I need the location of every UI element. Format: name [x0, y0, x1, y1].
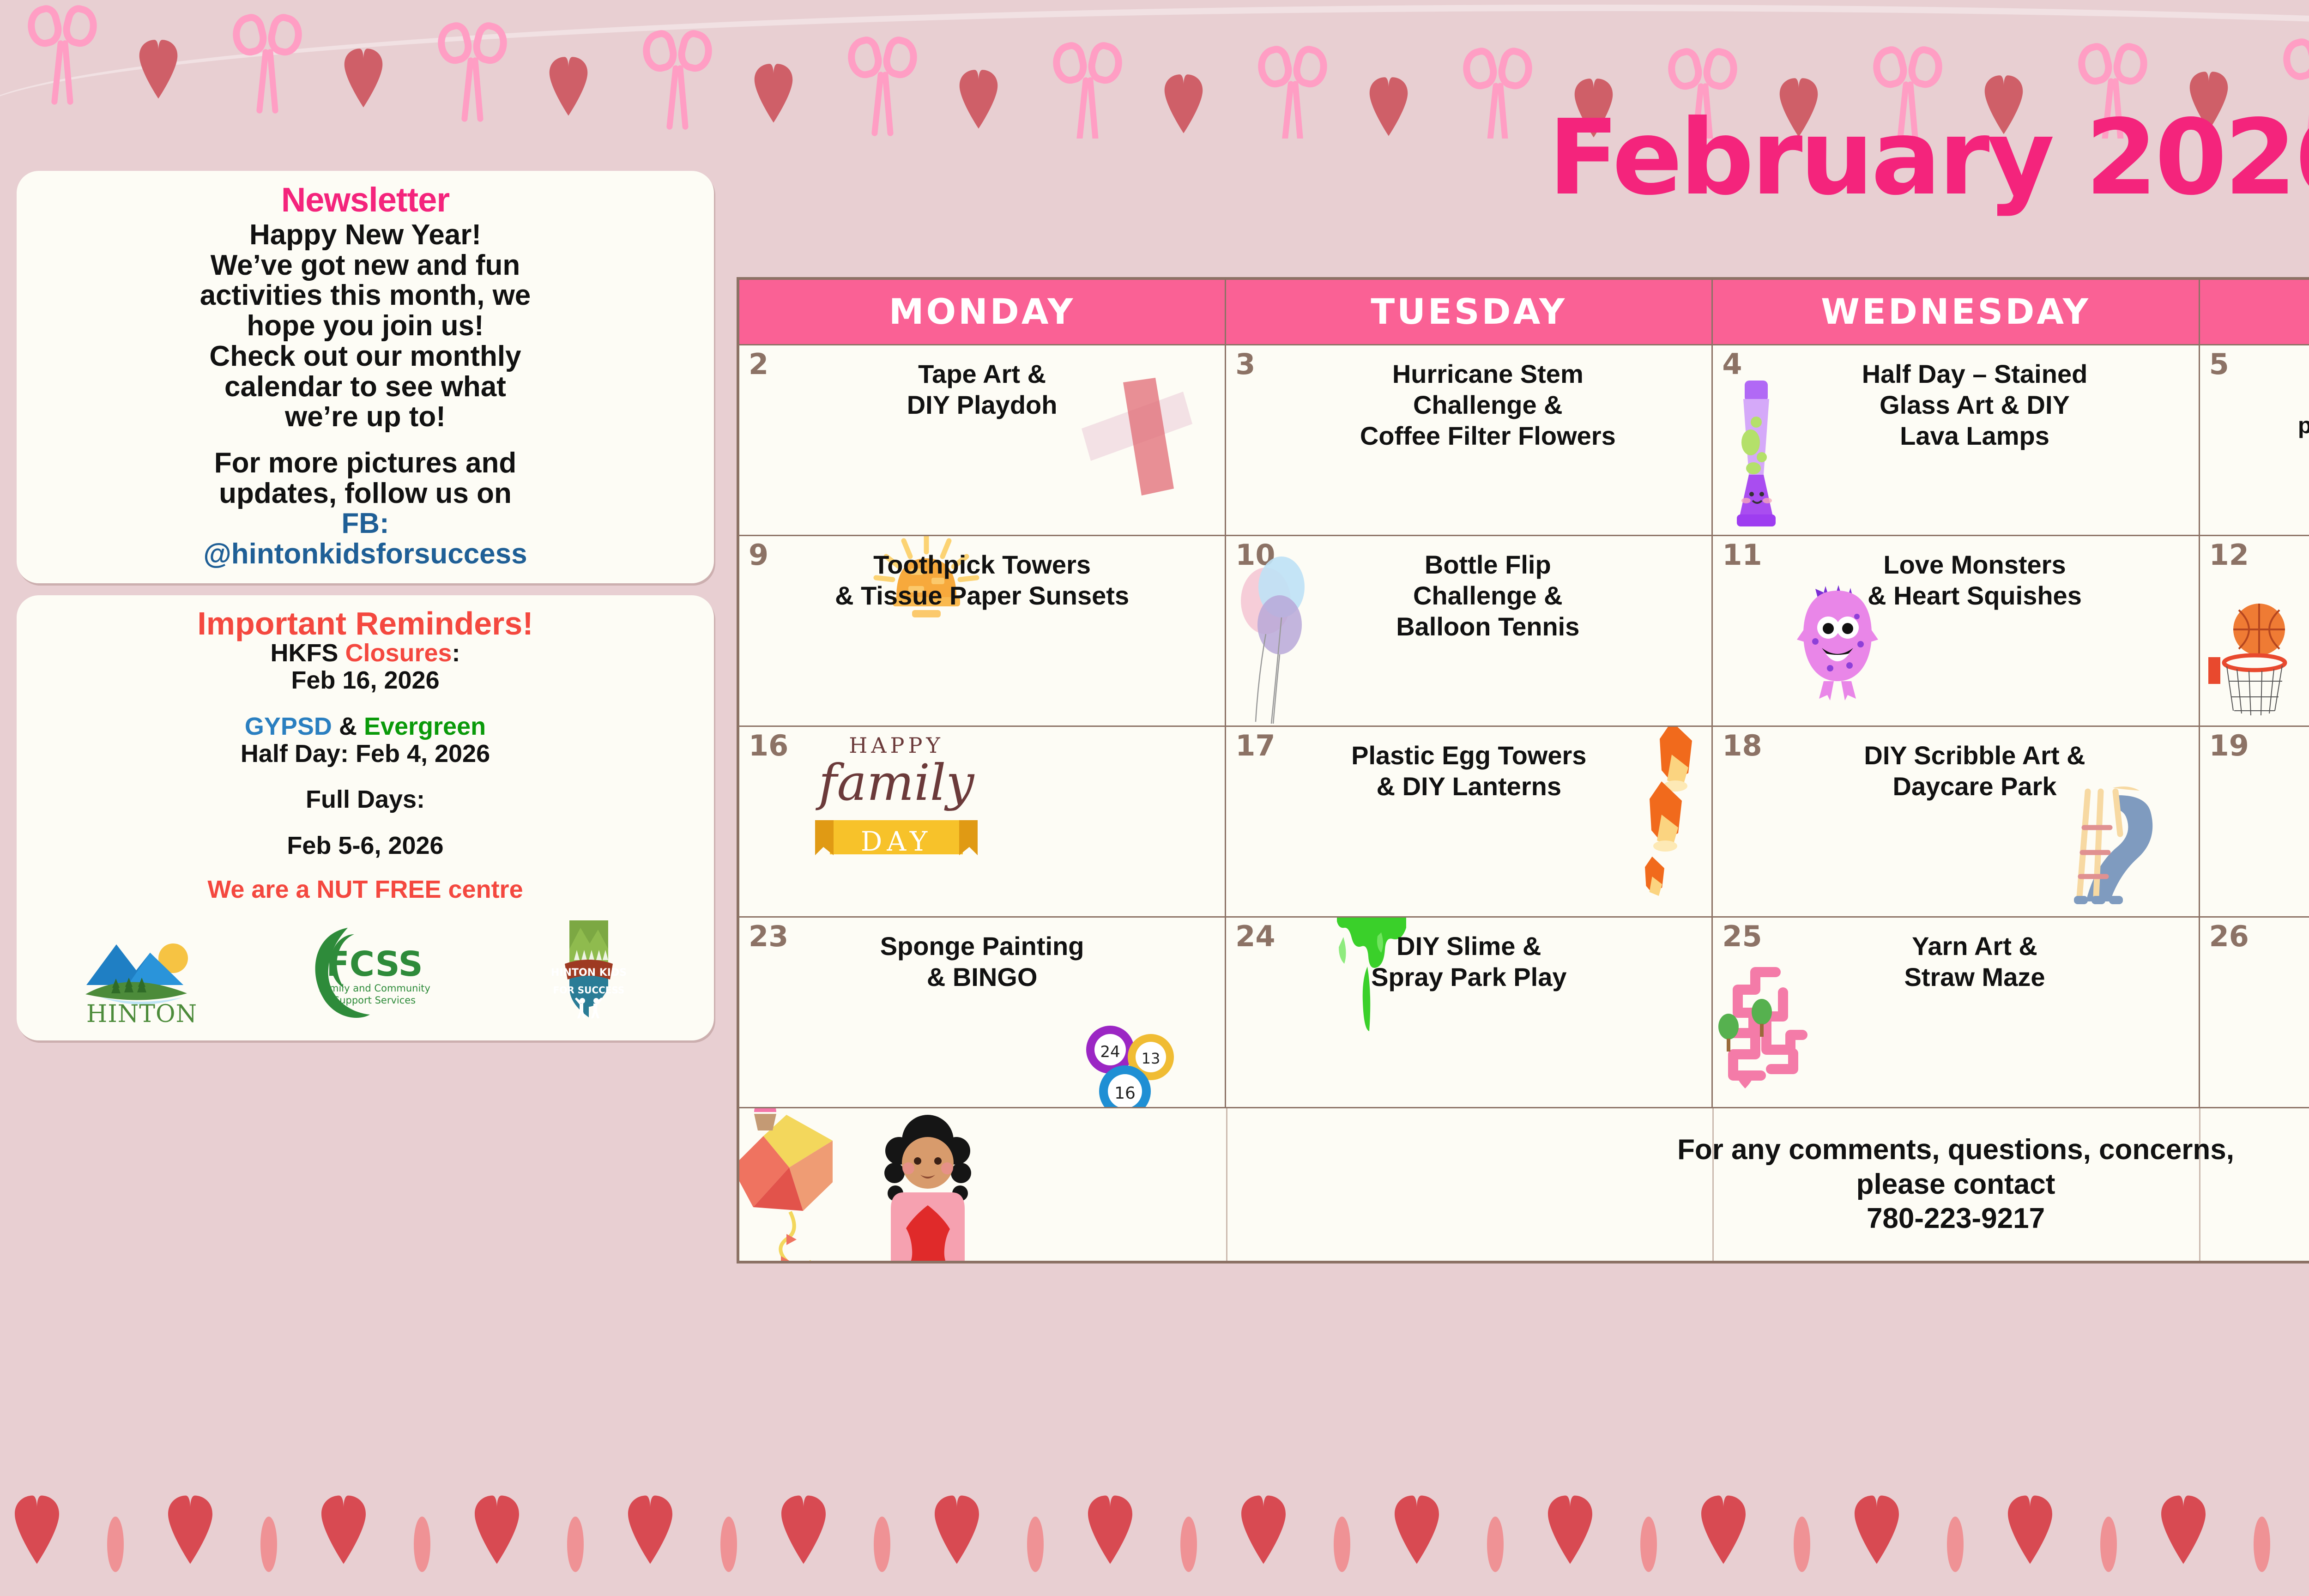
- text-fragment: & BINGO: [927, 962, 1038, 991]
- calendar-cell-day-24[interactable]: 24 DIY Slime &Spray Park Play: [1226, 918, 1711, 1107]
- calendar-footer: Happy Valentine's Day For any comments, …: [739, 1108, 2309, 1261]
- heart-icon: [1700, 1493, 1747, 1565]
- calendar-cell-day-19[interactable]: 19 Fluffy Art &Popsicle Puzzle: [2200, 727, 2309, 916]
- calendar-cell-day-2[interactable]: 2 Tape Art &DIY Playdoh: [739, 345, 1225, 535]
- heart-accent-icon: [1334, 1517, 1350, 1572]
- newsletter-line: we’re up to!: [32, 402, 698, 432]
- heart-icon: [1854, 1493, 1900, 1565]
- heart-accent-icon: [874, 1517, 890, 1572]
- calendar-cell-day-5[interactable]: 5Full Day – Botham: Spray Parkpm: Fear F…: [2200, 345, 2309, 535]
- text-fragment: Plastic Egg Towers: [1351, 741, 1586, 770]
- activity-text: Toothpick Towers& Tissue Paper Sunsets: [747, 546, 1217, 611]
- bow-icon: [438, 23, 507, 129]
- svg-text:HINTON KIDS: HINTON KIDS: [551, 967, 627, 979]
- activity-line: Spray Park Play: [1235, 961, 1702, 992]
- hinton-kids-for-success-logo: HINTON KIDS FOR SUCCESS: [520, 916, 658, 1027]
- newsletter-line: hope you join us!: [32, 311, 698, 341]
- reminders-title: Important Reminders!: [32, 607, 698, 640]
- text-fragment: Glass Art & DIY: [1880, 390, 2070, 419]
- heart-accent-icon: [567, 1517, 584, 1572]
- svg-text:16: 16: [1114, 1084, 1136, 1103]
- bingo-balls-icon: 24 13 16: [1074, 1014, 1185, 1107]
- activity-line: Bottle Flip: [1273, 549, 1702, 580]
- newsletter-line: Happy New Year!: [32, 220, 698, 250]
- newsletter-line: activities this month, we: [32, 280, 698, 311]
- half-day-line: Half Day: Feb 4, 2026: [32, 740, 698, 768]
- heart-accent-icon: [1947, 1517, 1964, 1572]
- footer-line: For any comments, questions, concerns,: [1677, 1133, 2234, 1167]
- footer-contact-text: For any comments, questions, concerns,pl…: [1677, 1133, 2234, 1236]
- heart-accent-icon: [1180, 1517, 1197, 1572]
- heart-icon: [474, 1493, 520, 1565]
- heart-accent-icon: [2254, 1517, 2270, 1572]
- text-fragment: & DIY Lanterns: [1377, 772, 1561, 801]
- heart-icon: [1087, 1493, 1133, 1565]
- activity-line: pm: Fear Factor & Just Dance: [2247, 412, 2309, 439]
- activity-text: Yarn Art &Straw Maze: [1720, 928, 2191, 992]
- activity-line: Lava Lamps: [1760, 420, 2189, 451]
- heart-icon: [627, 1493, 673, 1565]
- activity-text: Love Monsters& Heart Squishes: [1720, 546, 2191, 611]
- calendar-cell-day-26[interactable]: 26 Climbing Wall& Courts: [2200, 918, 2309, 1107]
- partner-logos: HINTON FCSS Family and Community Support…: [32, 916, 698, 1027]
- activity-line: & Courts: [2247, 580, 2309, 611]
- text-fragment: Coffee Filter Flowers: [1360, 421, 1616, 450]
- activity-text: Hurricane StemChallenge &Coffee Filter F…: [1233, 356, 1704, 452]
- activity-line: Straw Maze: [1760, 961, 2189, 992]
- text-fragment: Challenge &: [1413, 581, 1563, 610]
- activity-line: Tape Art &: [749, 358, 1215, 389]
- school-districts-line: GYPSD & Evergreen: [32, 713, 698, 740]
- heart-icon: [320, 1493, 367, 1565]
- activity-line: Yarn Art &: [1760, 931, 2189, 961]
- heart-accent-icon: [720, 1517, 737, 1572]
- text-fragment: Spray Park Play: [1371, 962, 1566, 991]
- bow-icon: [28, 6, 97, 112]
- heart-accent-icon: [1640, 1517, 1657, 1572]
- nut-free-notice: We are a NUT FREE centre: [32, 875, 698, 904]
- bow-icon: [233, 15, 302, 121]
- heart-icon: [1394, 1493, 1440, 1565]
- activity-line: & Tissue Paper Sunsets: [749, 580, 1215, 611]
- heart-icon: [1240, 1493, 1287, 1565]
- hkfs-closure-date: Feb 16, 2026: [32, 667, 698, 694]
- calendar-grid: MONDAYTUESDAYWEDNESDAYTHURSDAYFRIDAY2 Ta…: [737, 277, 2309, 1263]
- facebook-handle[interactable]: @hintonkidsforsuccess: [32, 539, 698, 569]
- day-of-week-header-wednesday: WEDNESDAY: [1713, 280, 2198, 344]
- heart-accent-icon: [414, 1517, 430, 1572]
- activity-text: Sponge Painting& BINGO: [747, 928, 1217, 992]
- day-of-week-header-thursday: THURSDAY: [2200, 280, 2309, 344]
- text-fragment: Balloon Tennis: [1396, 612, 1579, 641]
- footer-line: 780-223-9217: [1677, 1202, 2234, 1236]
- heart-accent-icon: [1027, 1517, 1044, 1572]
- reminders-spacer-2: [32, 768, 698, 786]
- heart-accent-icon: [1794, 1517, 1810, 1572]
- svg-text:24: 24: [1100, 1043, 1120, 1061]
- calendar-cell-day-9[interactable]: 9 Toothpick Towers& Tissue Paper Sunsets: [739, 536, 1225, 725]
- text-fragment: Bottle Flip: [1425, 550, 1551, 579]
- newsletter-spacer: [32, 432, 698, 448]
- heart-icon: [2007, 1493, 2053, 1565]
- activity-text: Climbing Wall& Courts: [2207, 928, 2309, 992]
- heart-icon: [139, 34, 178, 103]
- calendar-cell-day-4[interactable]: 4 Half Day – StainedGlass Art & DIYLava …: [1713, 345, 2198, 535]
- follow-line: updates, follow us on: [32, 478, 698, 509]
- day-number: 16: [749, 731, 788, 760]
- text-fragment: Challenge &: [1413, 390, 1563, 419]
- activity-line: Half Day – Stained: [1760, 358, 2189, 389]
- activity-line: Coffee Filter Flowers: [1273, 420, 1702, 451]
- closures-word: Closures: [345, 639, 452, 667]
- text-fragment: Daycare Park: [1893, 772, 2057, 801]
- full-days-date: Feb 5-6, 2026: [32, 832, 698, 859]
- heart-icon: [1547, 1493, 1593, 1565]
- activity-line: Popsicle Puzzle: [2247, 771, 2309, 802]
- activity-text: Full Day – Botham: Spray Parkpm: Fear Fa…: [2207, 356, 2309, 439]
- activity-line: DIY Playdoh: [749, 389, 1215, 420]
- heart-icon: [549, 51, 588, 121]
- activity-text: Climbing Wall& Courts: [2207, 546, 2309, 611]
- newsletter-panel: Newsletter Happy New Year! We’ve got new…: [17, 171, 714, 583]
- hkfs-suffix: :: [452, 639, 460, 667]
- text-fragment: pm: Fear Factor & Just Dance: [2298, 412, 2309, 438]
- activity-line: & Courts: [2209, 961, 2309, 992]
- calendar-cell-day-3[interactable]: 3Hurricane StemChallenge &Coffee Filter …: [1226, 345, 1711, 535]
- day-of-week-header-tuesday: TUESDAY: [1226, 280, 1711, 344]
- ampersand: &: [332, 713, 364, 740]
- day-of-week-header-monday: MONDAY: [739, 280, 1225, 344]
- hinton-logo: HINTON: [73, 916, 211, 1027]
- text-fragment: Straw Maze: [1904, 962, 2045, 991]
- calendar-cell-day-23[interactable]: 23 24 13 16 Sponge Painting& BINGO: [739, 918, 1225, 1107]
- activity-line: Full Day – Both: [2247, 358, 2309, 385]
- newsletter-title: Newsletter: [32, 183, 698, 217]
- calendar-cell-day-25[interactable]: 25 Yarn Art &Straw Maze: [1713, 918, 2198, 1107]
- svg-text:HAPPY: HAPPY: [849, 733, 944, 758]
- calendar: MONDAYTUESDAYWEDNESDAYTHURSDAYFRIDAY2 Ta…: [737, 277, 2309, 1263]
- newsletter-line: calendar to see what: [32, 372, 698, 402]
- svg-text:HINTON: HINTON: [86, 1000, 197, 1027]
- text-fragment: DIY Slime &: [1396, 931, 1541, 961]
- activity-line: Balloon Tennis: [1273, 611, 1702, 642]
- calendar-cell-day-16[interactable]: 16 HAPPY family DAY: [739, 727, 1225, 916]
- footer-line: please contact: [1677, 1167, 2234, 1202]
- text-fragment: & Heart Squishes: [1868, 581, 2082, 610]
- activity-text: Tape Art &DIY Playdoh: [747, 356, 1217, 420]
- girl-with-heart-icon: [869, 1115, 989, 1261]
- reminders-spacer-3: [32, 814, 698, 832]
- kite-icon: [739, 1108, 873, 1261]
- activity-line: Toothpick Towers: [749, 549, 1215, 580]
- hkfs-prefix: HKFS: [270, 639, 345, 667]
- svg-text:DAY: DAY: [861, 826, 932, 857]
- heart-accent-icon: [2100, 1517, 2117, 1572]
- follow-line: For more pictures and: [32, 448, 698, 478]
- calendar-cell-day-17[interactable]: 17 Plastic Egg Towers& DIY Lanterns: [1226, 727, 1711, 916]
- text-fragment: Yarn Art &: [1912, 931, 2037, 961]
- activity-line: Love Monsters: [1760, 549, 2189, 580]
- activity-line: Climbing Wall: [2247, 549, 2309, 580]
- heart-icon: [167, 1493, 213, 1565]
- activity-line: Challenge &: [1273, 389, 1702, 420]
- text-fragment: Love Monsters: [1883, 550, 2066, 579]
- calendar-cell-day-18[interactable]: 18 DIY Scribble Art &Daycare Park: [1713, 727, 2198, 916]
- svg-text:13: 13: [1142, 1050, 1161, 1067]
- activity-line: & BINGO: [749, 961, 1215, 992]
- text-fragment: DIY Playdoh: [907, 390, 1058, 419]
- activity-line: Fluffy Art &: [2247, 740, 2309, 771]
- text-fragment: Toothpick Towers: [873, 550, 1091, 579]
- activity-line: DIY Slime &: [1235, 931, 1702, 961]
- activity-text: Half Day – StainedGlass Art & DIYLava La…: [1720, 356, 2191, 452]
- newsletter-line: Check out our monthly: [32, 341, 698, 372]
- svg-text:FCSS: FCSS: [326, 944, 423, 984]
- calendar-cell-day-10[interactable]: 10 Bottle FlipChallenge &Balloon Tennis: [1226, 536, 1711, 725]
- activity-line: Climbing Wall: [2209, 931, 2309, 961]
- text-fragment: Hurricane Stem: [1392, 359, 1584, 388]
- hkfs-closures-line: HKFS Closures:: [32, 640, 698, 667]
- activity-text: Plastic Egg Towers& DIY Lanterns: [1233, 737, 1704, 802]
- heart-icon: [2160, 1493, 2206, 1565]
- footer-divider: [1226, 1108, 1227, 1261]
- activity-line: & Heart Squishes: [1760, 580, 2189, 611]
- heart-accent-icon: [1487, 1517, 1504, 1572]
- gypsd-label: GYPSD: [245, 713, 332, 740]
- svg-text:Support Services: Support Services: [333, 995, 416, 1006]
- calendar-cell-day-11[interactable]: 11 Love Monsters& Heart Squishes: [1713, 536, 2198, 725]
- reminders-spacer: [32, 695, 698, 713]
- calendar-cell-day-12[interactable]: 12 Climbing Wall& Courts: [2200, 536, 2309, 725]
- heart-icon: [780, 1493, 827, 1565]
- text-fragment: DIY Scribble Art &: [1864, 741, 2085, 770]
- heart-icon: [14, 1493, 60, 1565]
- activity-text: Fluffy Art &Popsicle Puzzle: [2207, 737, 2309, 802]
- newsletter-line: We’ve got new and fun: [32, 250, 698, 281]
- text-fragment: & Tissue Paper Sunsets: [835, 581, 1129, 610]
- text-fragment: Half Day – Stained: [1862, 359, 2088, 388]
- heart-icon: [344, 43, 383, 112]
- activity-text: DIY Scribble Art &Daycare Park: [1720, 737, 2191, 802]
- happy-family-day-icon: HAPPY family DAY: [799, 727, 993, 870]
- heart-accent-icon: [107, 1517, 124, 1572]
- evergreen-label: Evergreen: [364, 713, 486, 740]
- facebook-label: FB:: [32, 508, 698, 539]
- activity-line: Plastic Egg Towers: [1235, 740, 1702, 771]
- sidebar: Newsletter Happy New Year! We’ve got new…: [17, 171, 714, 1040]
- bottom-decorative-banner: [0, 1469, 2309, 1596]
- activity-line: Sponge Painting: [749, 931, 1215, 961]
- heart-icon: [934, 1493, 980, 1565]
- svg-text:Family and Community: Family and Community: [319, 983, 430, 994]
- activity-line: Glass Art & DIY: [1760, 389, 2189, 420]
- activity-line: & DIY Lanterns: [1235, 771, 1702, 802]
- text-fragment: Lava Lamps: [1900, 421, 2049, 450]
- cupcake-icon: [744, 1108, 786, 1133]
- heart-accent-icon: [260, 1517, 277, 1572]
- important-reminders-panel: Important Reminders! HKFS Closures: Feb …: [17, 595, 714, 1040]
- svg-text:FOR SUCCESS: FOR SUCCESS: [553, 985, 625, 996]
- bow-icon: [643, 31, 712, 137]
- text-fragment: Sponge Painting: [880, 931, 1084, 961]
- activity-line: Challenge &: [1273, 580, 1702, 611]
- fcss-logo: FCSS Family and Community Support Servic…: [296, 916, 435, 1027]
- activity-line: Daycare Park: [1760, 771, 2189, 802]
- activity-line: Hurricane Stem: [1273, 358, 1702, 389]
- calendar-title: February 2026: [737, 106, 2309, 210]
- activity-line: DIY Scribble Art &: [1760, 740, 2189, 771]
- svg-text:family: family: [816, 754, 975, 812]
- activity-line: am: Spray Park: [2247, 385, 2309, 412]
- newsletter-body: Happy New Year! We’ve got new and fun ac…: [32, 220, 698, 569]
- activity-text: DIY Slime &Spray Park Play: [1233, 928, 1704, 992]
- text-fragment: Tape Art &: [918, 359, 1046, 388]
- full-days-label: Full Days:: [32, 786, 698, 813]
- activity-text: Bottle FlipChallenge &Balloon Tennis: [1233, 546, 1704, 642]
